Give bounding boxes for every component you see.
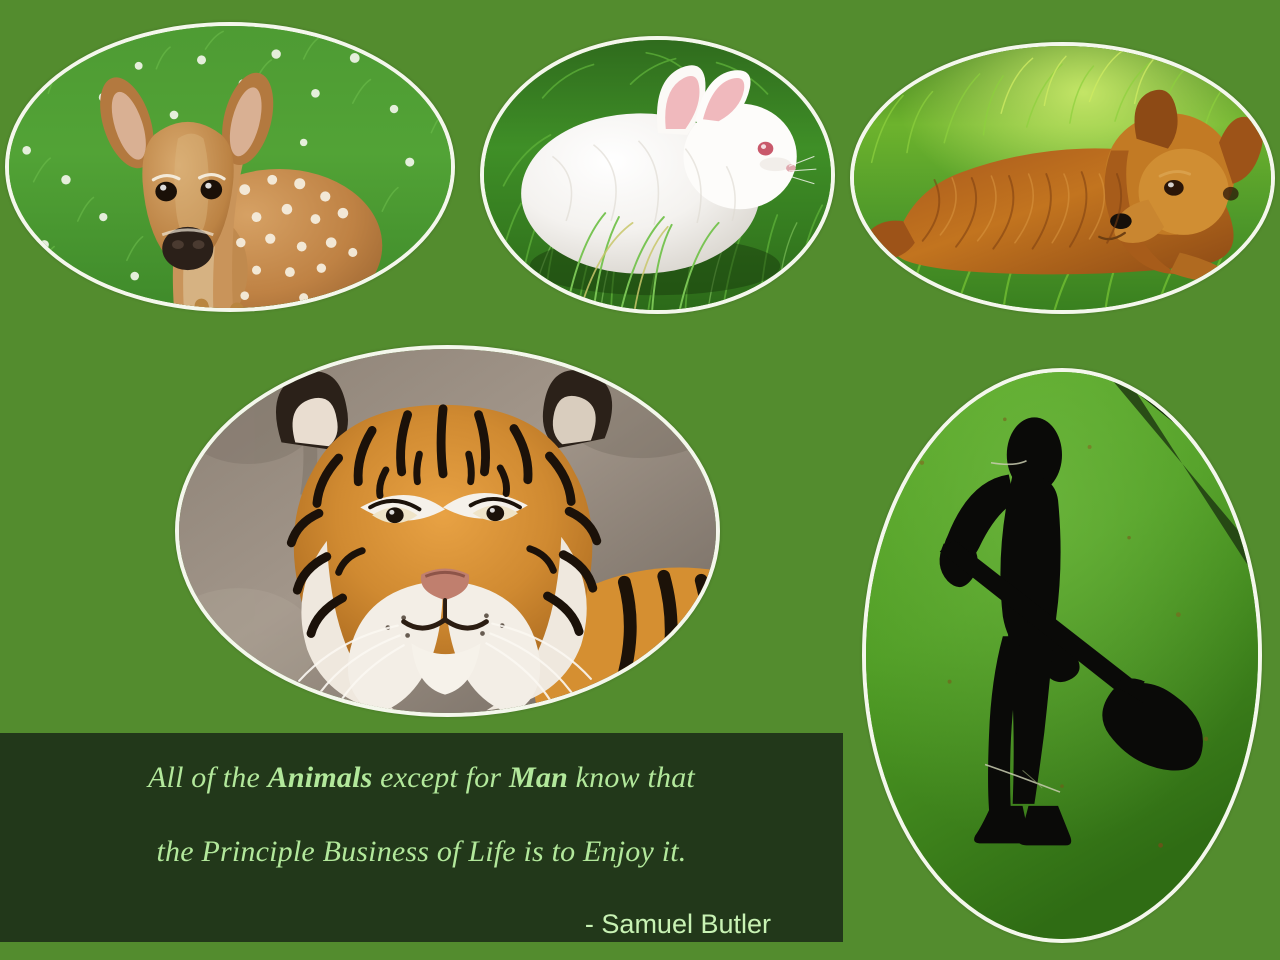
quote-bold-animals: Animals — [268, 761, 373, 794]
poster-canvas: QUOTESBUDDY .COM All of the Animals exce… — [0, 0, 1280, 960]
deer-photo — [5, 22, 455, 312]
deer-illustration — [9, 26, 451, 308]
quote-panel: All of the Animals except for Man know t… — [0, 733, 843, 942]
quote-bold-man: Man — [509, 761, 568, 794]
dog-illustration — [854, 46, 1271, 310]
quote-text-1: All of the — [148, 761, 268, 794]
tiger-photo — [175, 345, 720, 717]
sign-photo: QUOTESBUDDY .COM — [862, 368, 1262, 943]
rabbit-photo — [480, 36, 835, 314]
dog-photo — [850, 42, 1275, 314]
quote-text-2: except for — [372, 761, 509, 794]
sign-illustration — [866, 372, 1258, 939]
tiger-illustration — [179, 349, 716, 713]
quote-line-1: All of the Animals except for Man know t… — [34, 763, 809, 793]
quote-attribution: - Samuel Butler — [34, 909, 809, 940]
quote-text-3: know that — [568, 761, 695, 794]
quote-line-2: the Principle Business of Life is to Enj… — [34, 837, 809, 867]
rabbit-illustration — [484, 40, 831, 310]
